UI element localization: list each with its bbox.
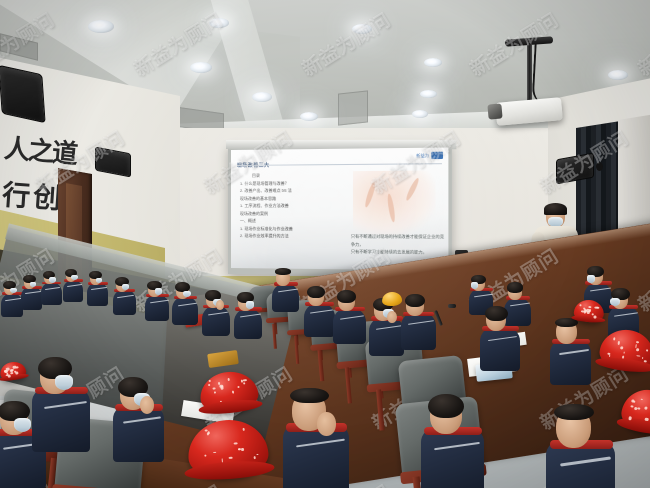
person-hair [428, 394, 464, 418]
ceiling-vent [338, 90, 368, 125]
person-hair [507, 282, 523, 292]
meeting-room-photo: 人之道 行 创新 现场改善三大 新益为 目录1. 什么是现场管理与改善？2. 改… [0, 0, 650, 488]
worker-uniform [63, 280, 83, 302]
worker-uniform [172, 296, 198, 325]
worker-uniform [480, 327, 519, 371]
worker-uniform [421, 428, 483, 488]
water-droplet [631, 399, 634, 402]
worker-uniform [272, 283, 299, 312]
person-hair [337, 290, 356, 303]
red-hard-hat [0, 360, 27, 381]
worker-uniform [283, 424, 349, 488]
face-mask [49, 277, 55, 282]
chair-leg [318, 350, 325, 382]
water-droplet [8, 374, 11, 377]
ceiling-downlight [352, 24, 372, 34]
worker-uniform [113, 289, 136, 315]
face-mask [183, 291, 191, 298]
worker-uniform [401, 312, 435, 350]
worker-uniform [32, 388, 90, 452]
person-hair [405, 294, 425, 307]
slide-bullet: 1. 工序流程、作业方法改善 [240, 202, 346, 210]
water-droplet [620, 346, 623, 349]
wall-speaker-icon [0, 65, 46, 123]
worker-uniform [550, 339, 591, 384]
person-hair [290, 388, 329, 404]
slide-bullet: 一、概述 [240, 217, 346, 225]
face-mask [14, 418, 31, 432]
water-droplet [242, 428, 244, 431]
slide-logo-text: 新益为 [416, 152, 429, 158]
microphone-head-icon [448, 304, 456, 308]
wall-calligraphy-line-1: 人之道 [3, 137, 77, 168]
ceiling-downlight [420, 90, 437, 98]
ceiling-downlight [300, 112, 318, 121]
security-camera-icon [596, 162, 603, 171]
water-droplet [208, 384, 210, 386]
water-droplet [253, 456, 255, 459]
slide-note-block: 只有不断通过对现场的持续改善才能保证企业的竞争力，只有不断学习才能持续的去发展的… [351, 233, 444, 257]
projector-mount-pole [527, 42, 532, 104]
slide-bullet-list: 目录1. 什么是现场管理与改善？2. 改善产出、改善难点 5S 法现场改善的基本… [240, 171, 346, 240]
worker-uniform [21, 286, 42, 310]
person-hair [554, 404, 594, 420]
water-droplet [240, 380, 242, 383]
water-droplet [646, 350, 648, 352]
red-hard-hat [619, 386, 650, 436]
water-droplet [613, 337, 615, 340]
slide-bullet: 现场改善的案例 [240, 210, 346, 218]
slide-bullet: 2. 现场作业效率提升的方法 [240, 232, 346, 240]
red-hard-hat [573, 299, 605, 324]
water-droplet [644, 407, 647, 410]
presenter-hair [544, 203, 567, 215]
chair-leg [272, 324, 277, 349]
water-droplet [593, 315, 596, 318]
ceiling-downlight [88, 20, 114, 33]
worker-uniform [333, 308, 366, 344]
chair-leg [294, 336, 299, 364]
person-hair [485, 306, 508, 321]
face-mask [155, 288, 163, 294]
face-mask [587, 275, 596, 282]
ceiling-downlight [412, 110, 428, 118]
worker-uniform [1, 293, 23, 318]
slide-logo-badge [431, 152, 443, 159]
ceiling-downlight [190, 62, 212, 73]
red-hard-hat [198, 369, 260, 415]
water-droplet [232, 391, 234, 394]
face-mask [55, 375, 73, 390]
slide-note-line: 只有不断学习才能持续的去发展的能力。 [351, 248, 444, 257]
ceiling-downlight [608, 70, 628, 80]
water-droplet [227, 378, 229, 381]
face-mask [471, 282, 479, 288]
face-mask [246, 301, 255, 308]
water-droplet [16, 366, 18, 368]
projector-cable [531, 44, 552, 107]
red-hard-hat [598, 327, 650, 373]
worker-uniform [41, 282, 62, 305]
slide-logo: 新益为 [416, 152, 443, 160]
water-droplet [220, 386, 223, 390]
projection-screen: 现场改善三大 新益为 目录1. 什么是现场管理与改善？2. 改善产出、改善难点 … [231, 147, 448, 270]
red-hard-hat [186, 417, 270, 480]
worker-uniform [87, 282, 108, 306]
ceiling-downlight [209, 18, 229, 28]
slide-illustration [353, 171, 435, 236]
worker-uniform [234, 308, 262, 339]
person-hair [307, 286, 325, 298]
water-droplet [241, 447, 244, 450]
worker-uniform [113, 405, 164, 462]
ceiling-downlight [252, 92, 272, 102]
worker-uniform [304, 303, 335, 337]
ceiling-downlight [424, 58, 442, 67]
water-droplet [243, 382, 245, 384]
yellow-hard-hat [382, 291, 403, 306]
person-hair [275, 268, 291, 274]
worker-uniform [504, 297, 531, 326]
worker-uniform [145, 294, 170, 322]
worker-uniform [202, 305, 229, 335]
worker-uniform [369, 317, 404, 356]
water-droplet [213, 387, 216, 389]
water-droplet [637, 407, 640, 409]
water-droplet [207, 431, 210, 435]
water-droplet [628, 416, 632, 420]
slide-note-line: 只有不断通过对现场的持续改善才能保证企业的竞争力， [351, 233, 444, 249]
projector-lens-icon [487, 103, 502, 119]
slide-bullet: 现场改善的基本思路 [240, 194, 346, 202]
